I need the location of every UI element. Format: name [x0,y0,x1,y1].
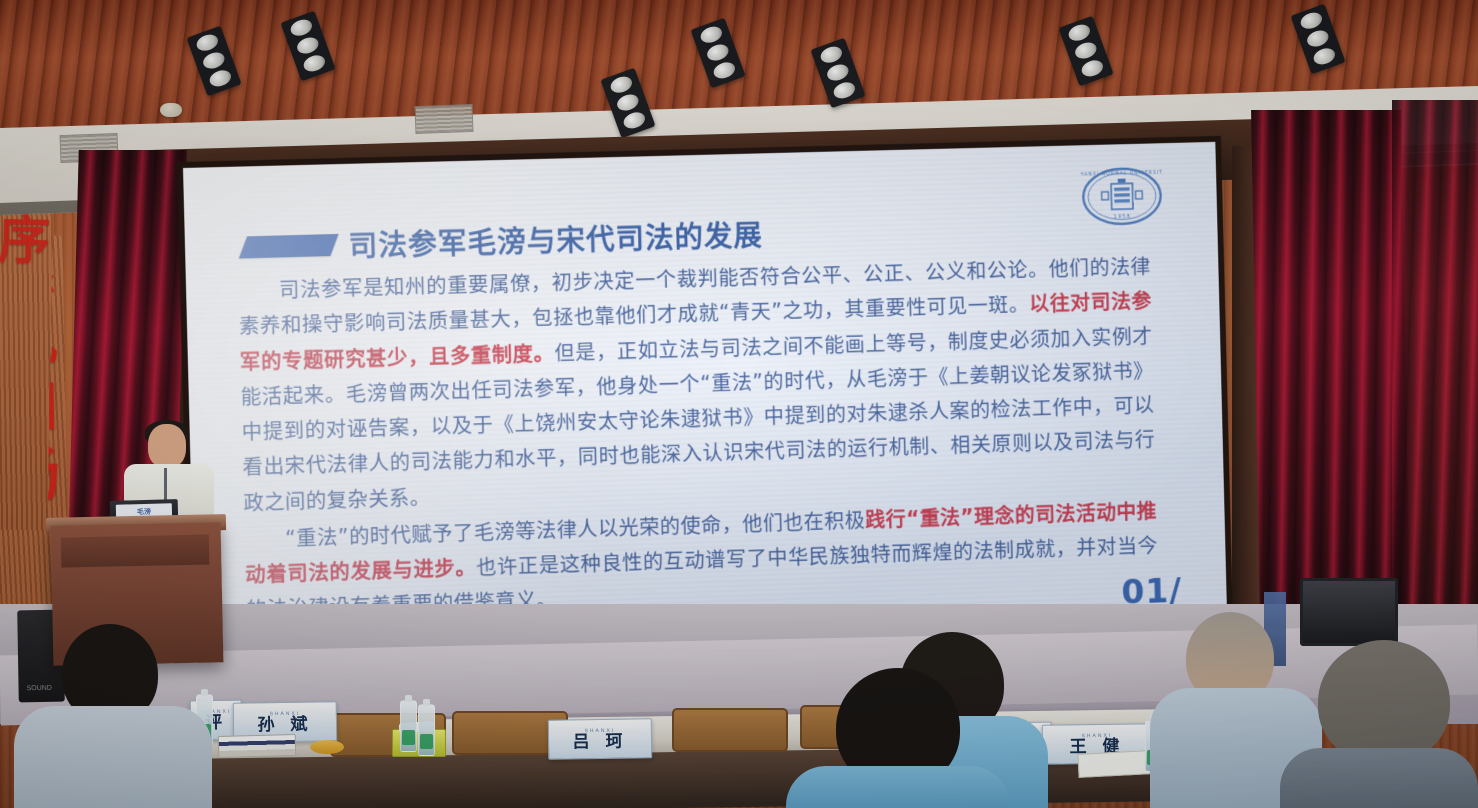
confidence-monitor [1300,578,1398,646]
ceiling-vent [415,104,474,134]
slide-run-normal: 司法参军是知州的重要属僚，初步决定一个裁判能否符合公平、公正、公义和公论。他们的… [239,255,1151,339]
slide-body: 司法参军是知州的重要属僚，初步决定一个裁判能否符合公平、公正、公义和公论。他们的… [238,250,1159,631]
slide-title-row: 司法参军毛滂与宋代司法的发展 [242,213,763,269]
projection-screen: 司法参军毛滂与宋代司法的发展 SHANXI NORMAL UNIVERSITY … [183,142,1227,650]
book-stack [218,734,297,758]
title-accent-bar [239,234,339,259]
wall-calligraphy-right: 序 [0,210,53,531]
paper-sheet [1077,750,1150,778]
presenter-head [148,424,186,468]
pa-speaker-label: SOUND [27,685,52,692]
slide-title: 司法参军毛滂与宋代司法的发展 [348,213,763,266]
university-seal-logo: SHANXI NORMAL UNIVERSITY 1958 [1081,165,1164,228]
name-card: SHANXI 吕 珂 [548,718,653,759]
audience-head [1318,640,1450,764]
conference-hall-photo: 惠风和畅 序 司法参军毛滂与宋代司法的发展 [0,0,1478,808]
name-card-name: 吕 珂 [572,733,627,752]
podium-front-panel [61,534,210,567]
water-bottle [400,700,417,752]
smoke-detector-icon [160,103,182,117]
audience-torso [1280,748,1478,808]
wall-calligraphy-right-text: 序 [0,210,53,273]
chair-back [672,708,788,752]
slide: 司法参军毛滂与宋代司法的发展 SHANXI NORMAL UNIVERSITY … [183,142,1227,650]
audience-torso [14,706,212,808]
stage-curtain-far-right [1392,100,1478,660]
slide-paragraph: 司法参军是知州的重要属僚，初步决定一个裁判能否符合公平、公正、公义和公论。他们的… [238,250,1157,521]
presenter-lanyard [164,468,167,502]
water-bottle [418,704,435,756]
snack-item [310,740,344,754]
audience-torso [786,766,1010,808]
name-card-name: 孙 斌 [257,716,312,735]
logo-year-text: 1958 [1114,214,1132,220]
